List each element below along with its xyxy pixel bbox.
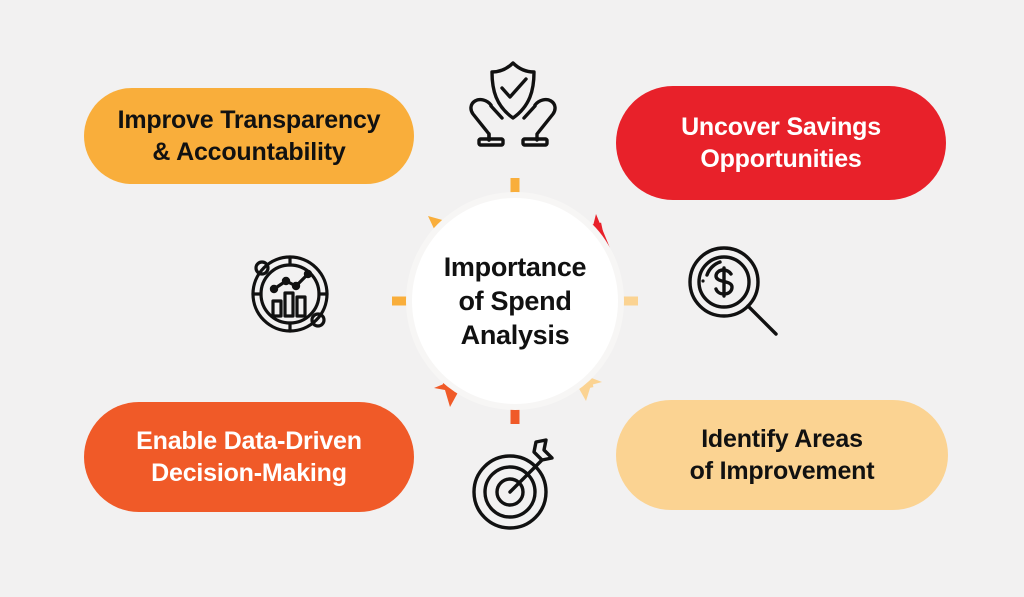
benefit-line-1: Uncover Savings [681,111,881,143]
center-title-line-1: Importance [444,250,587,284]
center-hub: Importance of Spend Analysis [412,198,618,404]
benefit-line-2: Decision-Making [136,457,362,489]
benefit-line-1: Enable Data-Driven [136,425,362,457]
benefit-line-2: & Accountability [118,136,381,168]
benefit-line-2: of Improvement [690,455,875,487]
benefit-line-1: Identify Areas [690,423,875,455]
center-title-line-2: of Spend [444,284,587,318]
shield-hands-icon [458,56,568,148]
benefit-pill-label: Improve Transparency & Accountability [118,104,381,168]
analytics-chart-icon [240,244,340,342]
benefit-pill-enable-data-driven-decision-making[interactable]: Enable Data-Driven Decision-Making [84,402,414,512]
center-title-line-3: Analysis [444,318,587,352]
benefit-pill-label: Uncover Savings Opportunities [681,111,881,175]
benefit-line-1: Improve Transparency [118,104,381,136]
benefit-pill-label: Enable Data-Driven Decision-Making [136,425,362,489]
magnifier-dollar-icon [684,242,788,342]
benefit-line-2: Opportunities [681,143,881,175]
benefit-pill-uncover-savings[interactable]: Uncover Savings Opportunities [616,86,946,200]
benefit-pill-identify-areas-of-improvement[interactable]: Identify Areas of Improvement [616,400,948,510]
page-title: Importance of Spend Analysis [444,250,587,352]
benefit-pill-label: Identify Areas of Improvement [690,423,875,487]
benefit-pill-improve-transparency-accountability[interactable]: Improve Transparency & Accountability [84,88,414,184]
infographic-canvas: Importance of Spend Analysis Improve Tra… [0,0,1024,597]
target-arrow-icon [464,438,564,536]
